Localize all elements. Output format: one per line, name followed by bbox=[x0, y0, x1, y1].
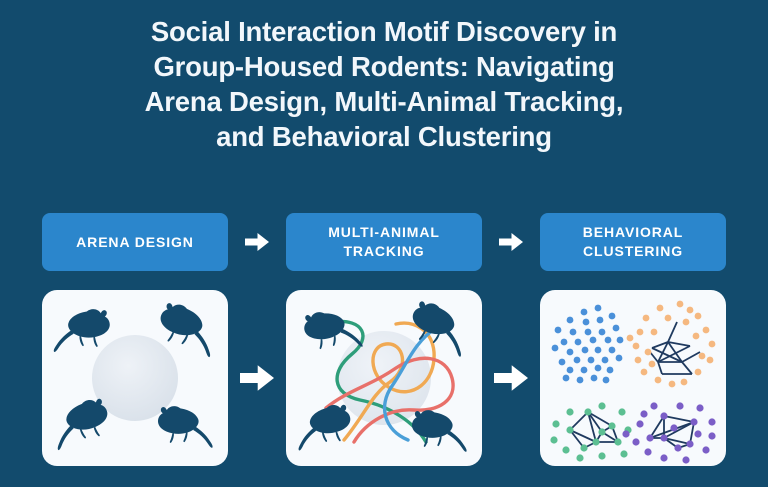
arrow-right-icon bbox=[238, 361, 276, 395]
green-cluster bbox=[550, 402, 631, 461]
title-line-4: and Behavioral Clustering bbox=[40, 119, 728, 154]
behavioral-clustering-illustration bbox=[540, 290, 726, 466]
chip2-line2: TRACKING bbox=[343, 243, 424, 259]
purple-cluster-dots bbox=[622, 402, 715, 463]
pipeline-panels bbox=[42, 290, 726, 466]
chip2-line1: MULTI-ANIMAL bbox=[328, 224, 440, 240]
panel-arrow-1 bbox=[228, 290, 286, 466]
step-chip-multi-animal-tracking[interactable]: MULTI-ANIMAL TRACKING bbox=[286, 213, 482, 271]
orange-cluster bbox=[627, 301, 716, 388]
green-cluster-dots bbox=[550, 402, 631, 461]
arena-design-illustration bbox=[42, 290, 228, 466]
rodent-top-left bbox=[54, 309, 110, 352]
chip3-line2: CLUSTERING bbox=[583, 243, 683, 259]
orange-cluster-edges bbox=[650, 322, 700, 374]
arrow-right-icon bbox=[244, 230, 270, 254]
step-chip-behavioral-clustering-label: BEHAVIORAL CLUSTERING bbox=[583, 223, 684, 261]
rodent-bottom-left bbox=[294, 403, 353, 450]
pipeline-steps: ARENA DESIGN MULTI-ANIMAL TRACKING BEHAV… bbox=[42, 213, 726, 271]
page-title: Social Interaction Motif Discovery in Gr… bbox=[0, 14, 768, 154]
step-chip-arena-design[interactable]: ARENA DESIGN bbox=[42, 213, 228, 271]
pipeline-arrow-1 bbox=[228, 213, 286, 271]
title-line-3: Arena Design, Multi-Animal Tracking, bbox=[40, 84, 728, 119]
panel-multi-animal-tracking[interactable] bbox=[286, 290, 482, 466]
panel-arena-design[interactable] bbox=[42, 290, 228, 466]
pipeline-arrow-2 bbox=[482, 213, 540, 271]
arrow-right-icon bbox=[492, 361, 530, 395]
step-chip-multi-animal-tracking-label: MULTI-ANIMAL TRACKING bbox=[328, 223, 440, 261]
panel-behavioral-clustering[interactable] bbox=[540, 290, 726, 466]
step-chip-behavioral-clustering[interactable]: BEHAVIORAL CLUSTERING bbox=[540, 213, 726, 271]
title-line-2: Group-Housed Rodents: Navigating bbox=[40, 49, 728, 84]
rodent-bottom-right bbox=[412, 410, 467, 452]
purple-cluster bbox=[622, 402, 715, 463]
panel-arrow-2 bbox=[482, 290, 540, 466]
step-chip-arena-design-label: ARENA DESIGN bbox=[76, 233, 194, 252]
chip3-line1: BEHAVIORAL bbox=[583, 224, 684, 240]
blue-cluster bbox=[552, 305, 624, 384]
multi-animal-tracking-illustration bbox=[286, 290, 482, 466]
title-line-1: Social Interaction Motif Discovery in bbox=[40, 14, 728, 49]
arrow-right-icon bbox=[498, 230, 524, 254]
rodent-bottom-right bbox=[158, 406, 213, 448]
